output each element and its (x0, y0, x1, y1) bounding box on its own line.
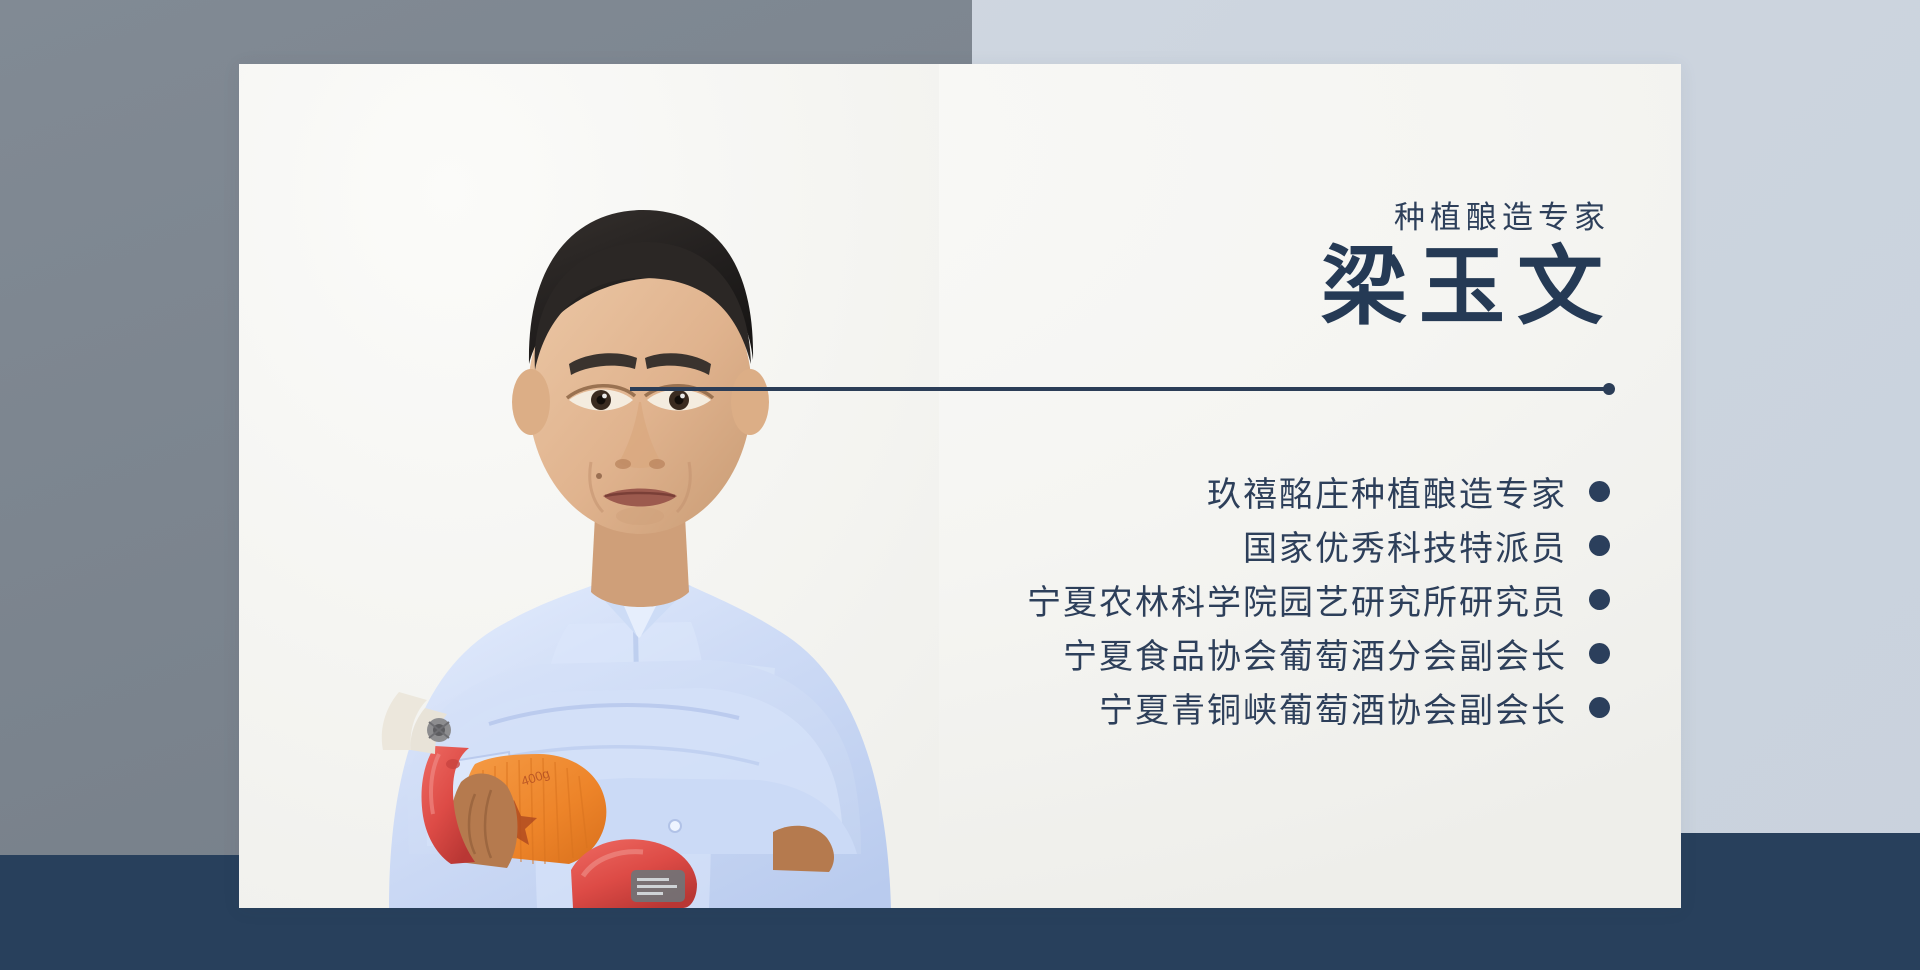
list-item: 国家优秀科技特派员 (1243, 518, 1610, 572)
profile-subtitle: 种植酿造专家 (1394, 192, 1610, 237)
bullet-dot-icon (1589, 589, 1610, 610)
credential-label: 宁夏食品协会葡萄酒分会副会长 (1063, 629, 1567, 678)
credential-label: 玖禧酩庄种植酿造专家 (1207, 467, 1567, 516)
profile-name: 梁玉文 (1321, 242, 1615, 332)
list-item: 玖禧酩庄种植酿造专家 (1207, 464, 1610, 518)
credential-label: 国家优秀科技特派员 (1243, 521, 1567, 570)
divider-rule (630, 383, 1615, 395)
bullet-dot-icon (1589, 481, 1610, 502)
divider-end-dot (1603, 383, 1615, 395)
portrait-photo: 400g (239, 64, 939, 908)
list-item: 宁夏农林科学院园艺研究所研究员 (1027, 572, 1610, 626)
credential-label: 宁夏农林科学院园艺研究所研究员 (1027, 575, 1567, 624)
bullet-dot-icon (1589, 643, 1610, 664)
bullet-dot-icon (1589, 697, 1610, 718)
banner-stage: 400g (0, 0, 1920, 970)
credentials-list: 玖禧酩庄种植酿造专家 国家优秀科技特派员 宁夏农林科学院园艺研究所研究员 宁夏食… (920, 464, 1610, 734)
credential-label: 宁夏青铜峡葡萄酒协会副会长 (1099, 683, 1567, 732)
divider-line (630, 387, 1605, 391)
profile-card: 400g (239, 64, 1681, 908)
profile-text-column: 种植酿造专家 梁玉文 玖禧酩庄种植酿造专家 国家优秀科技特派员 宁夏农林科学院园… (939, 64, 1681, 908)
bullet-dot-icon (1589, 535, 1610, 556)
list-item: 宁夏青铜峡葡萄酒协会副会长 (1099, 680, 1610, 734)
list-item: 宁夏食品协会葡萄酒分会副会长 (1063, 626, 1610, 680)
